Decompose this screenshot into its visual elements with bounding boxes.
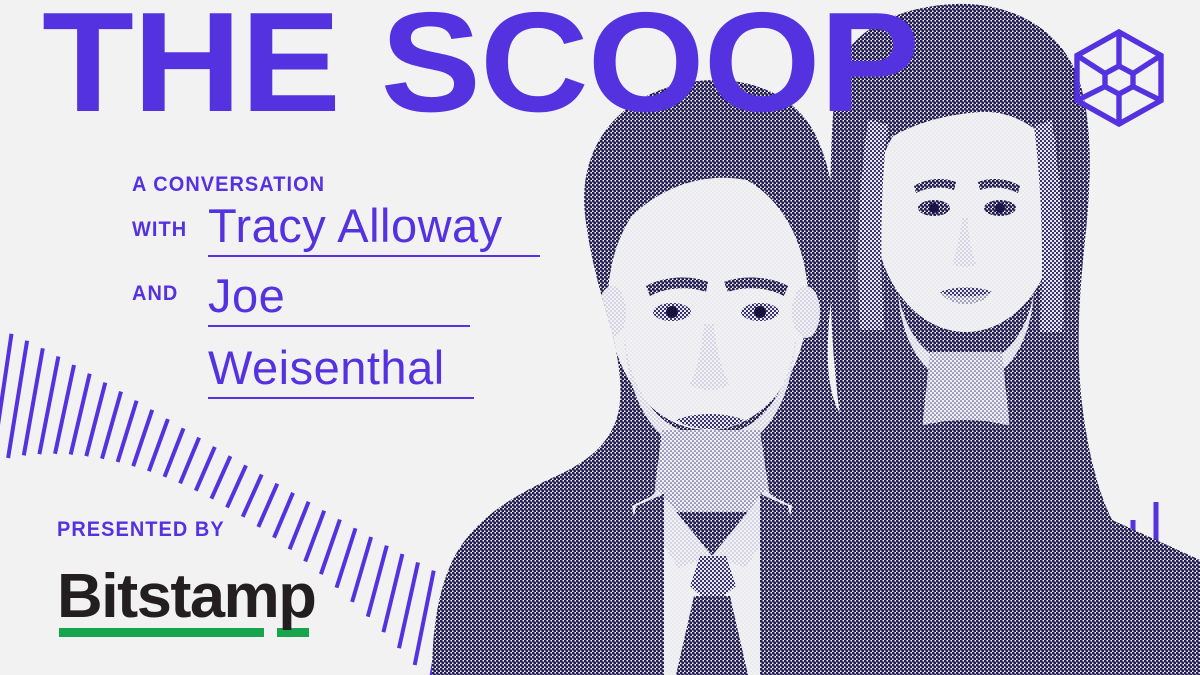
guest-two-row: AND Joe Weisenthal (132, 269, 540, 399)
guest-one-row: WITH Tracy Alloway (132, 201, 540, 257)
and-label: AND (132, 269, 204, 306)
the-block-cube-logo[interactable] (1073, 28, 1165, 128)
bitstamp-wordmark: Bitstamp (57, 566, 322, 628)
guest-two-name-stack: Joe Weisenthal (208, 269, 474, 399)
conversation-block: A CONVERSATION WITH Tracy Alloway AND Jo… (132, 172, 540, 399)
bitstamp-logo[interactable]: Bitstamp (57, 566, 317, 628)
presented-by-label: PRESENTED BY (57, 518, 304, 542)
with-label: WITH (132, 201, 204, 242)
page-title: THE SCOOP (42, 0, 919, 134)
sponsor-block: PRESENTED BY Bitstamp (57, 518, 317, 628)
guest-two-name-line-2: Weisenthal (208, 343, 474, 399)
podcast-cover-canvas: THE SCOOP A CONVERSATION WITH Tracy Allo… (0, 0, 1200, 675)
guest-one-name-stack: Tracy Alloway (208, 201, 540, 257)
bitstamp-descender-gap (264, 626, 277, 639)
conversation-kicker: A CONVERSATION (132, 172, 520, 197)
guest-two-name-line-1: Joe (208, 271, 470, 327)
guest-one-name: Tracy Alloway (208, 201, 540, 257)
